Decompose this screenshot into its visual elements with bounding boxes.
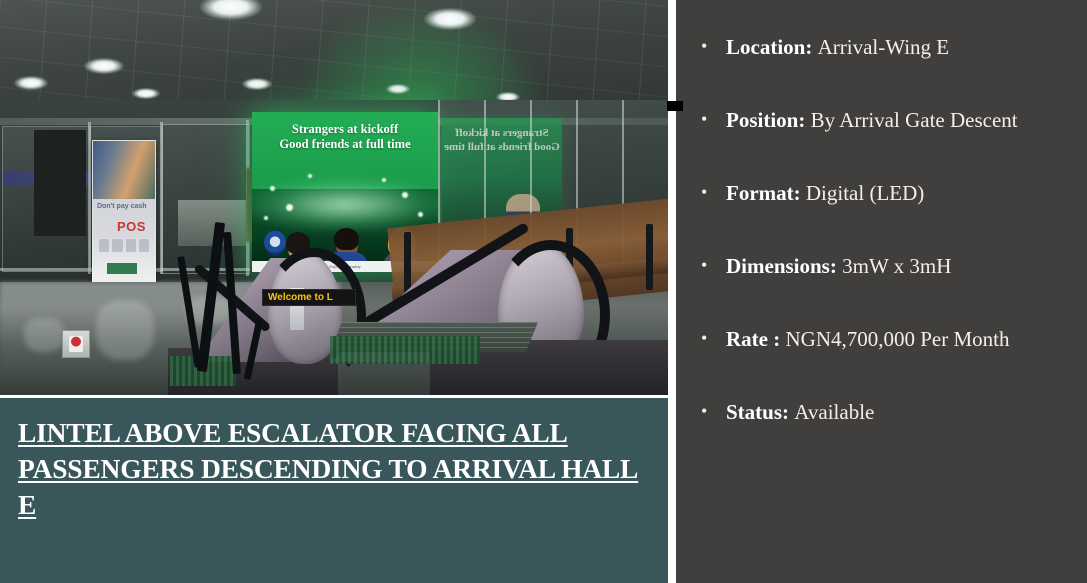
model-center <box>336 232 358 258</box>
champions-league-logo-icon <box>264 230 286 256</box>
detail-item-dimensions: Dimensions: 3mW x 3mH <box>690 253 1073 279</box>
ceiling-light <box>14 76 48 90</box>
escalator-landing-steps <box>330 336 480 364</box>
led-ad-line-2: Good friends at full time <box>252 137 438 152</box>
dark-glass-panel <box>34 130 86 236</box>
detail-separator: : <box>773 327 785 351</box>
led-ad-line-1: Strangers at kickoff <box>252 122 438 137</box>
warning-sign <box>62 330 90 358</box>
rail-post <box>646 224 653 290</box>
detail-item-rate: Rate : NGN4,700,000 Per Month <box>690 326 1073 352</box>
detail-separator: : <box>794 181 806 205</box>
detail-label-status: Status <box>726 400 782 424</box>
model-hair <box>334 228 359 250</box>
ceiling-light <box>242 78 272 90</box>
detail-value-location: Arrival-Wing E <box>818 35 950 59</box>
banner-photo <box>93 141 155 199</box>
detail-item-position: Position: By Arrival Gate Descent <box>690 107 1073 133</box>
floor-reflection <box>96 300 154 360</box>
detail-label-rate: Rate <box>726 327 773 351</box>
banner-pos-label: POS <box>117 219 146 234</box>
detail-value-dimensions: 3mW x 3mH <box>842 254 951 278</box>
detail-value-status: Available <box>794 400 874 424</box>
warning-icon <box>69 336 83 352</box>
banner-icon-row <box>99 239 149 255</box>
details-panel: Location: Arrival-Wing E Position: By Ar… <box>676 0 1087 583</box>
ceiling-light <box>84 58 124 74</box>
detail-label-location: Location <box>726 35 805 59</box>
detail-label-position: Position <box>726 108 798 132</box>
ceiling-light <box>424 8 476 30</box>
welcome-ticker-text: Welcome to L <box>263 290 355 305</box>
caption-title: LINTEL ABOVE ESCALATOR FACING ALL PASSEN… <box>18 415 650 523</box>
detail-separator: : <box>782 400 794 424</box>
site-photo: Don't pay cash POS Strangers at kickoff … <box>0 0 668 395</box>
caption-band: LINTEL ABOVE ESCALATOR FACING ALL PASSEN… <box>0 398 668 583</box>
glass-partition <box>162 124 250 274</box>
mullion <box>88 122 91 274</box>
edge-marker <box>667 101 683 111</box>
detail-separator: : <box>798 108 810 132</box>
detail-label-format: Format <box>726 181 794 205</box>
banner-logo <box>107 263 137 274</box>
mullion <box>160 122 163 274</box>
left-column: Don't pay cash POS Strangers at kickoff … <box>0 0 668 583</box>
detail-item-location: Location: Arrival-Wing E <box>690 34 1073 60</box>
detail-item-format: Format: Digital (LED) <box>690 180 1073 206</box>
detail-separator: : <box>830 254 842 278</box>
slide-canvas: Don't pay cash POS Strangers at kickoff … <box>0 0 1087 583</box>
floor-reflection <box>24 318 64 352</box>
detail-label-dimensions: Dimensions <box>726 254 830 278</box>
banner-headline: Don't pay cash <box>97 203 151 211</box>
detail-value-format: Digital (LED) <box>806 181 924 205</box>
ceiling-light <box>386 84 410 94</box>
ceiling-light <box>132 88 160 99</box>
detail-item-status: Status: Available <box>690 399 1073 425</box>
welcome-ticker-sign: Welcome to L <box>262 289 356 306</box>
detail-value-position: By Arrival Gate Descent <box>811 108 1018 132</box>
led-ad-copy: Strangers at kickoff Good friends at ful… <box>252 122 438 152</box>
detail-separator: : <box>805 35 817 59</box>
detail-value-rate: NGN4,700,000 Per Month <box>785 327 1009 351</box>
